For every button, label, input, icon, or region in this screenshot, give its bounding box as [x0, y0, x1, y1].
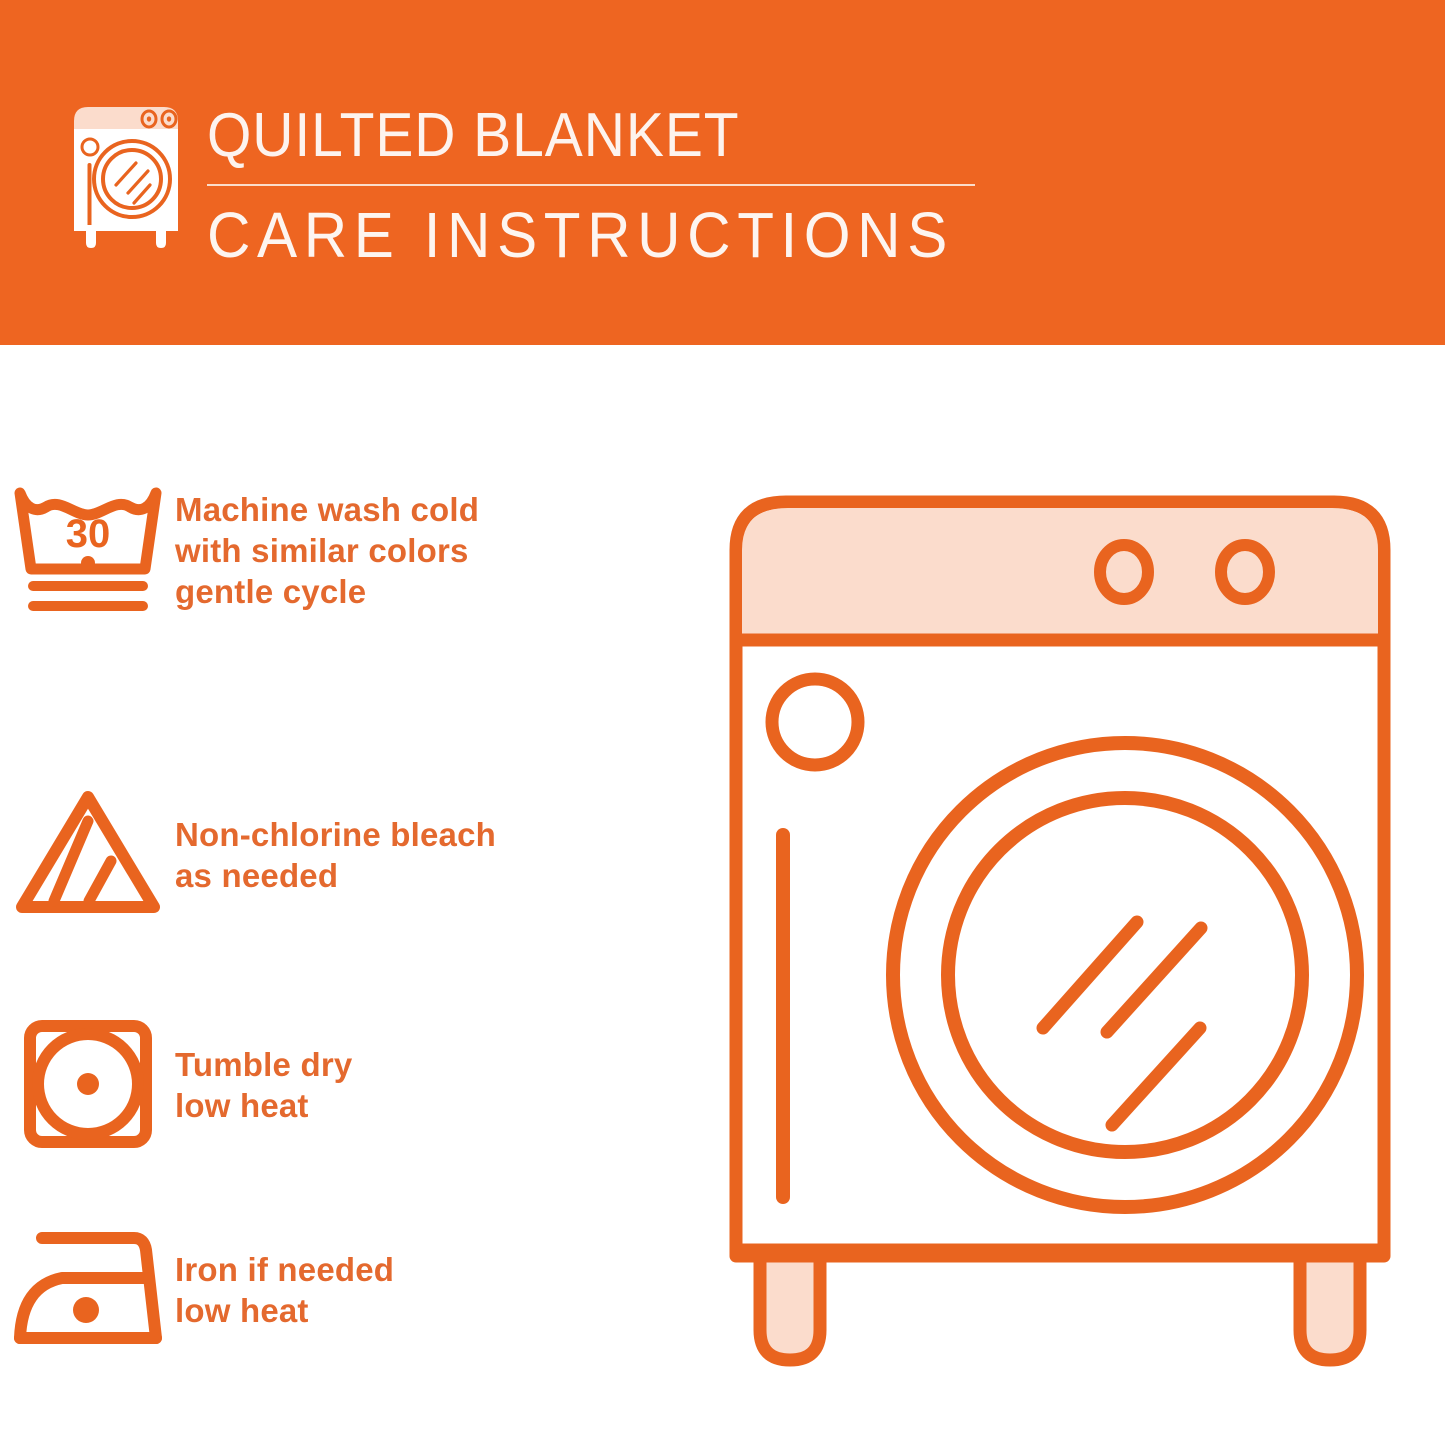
list-item-tumble-dry: Tumble dry low heat: [0, 1010, 700, 1160]
tumble-dry-low-heat-icon: [0, 1010, 175, 1160]
header-banner: QUILTED BLANKET CARE INSTRUCTIONS: [0, 0, 1445, 345]
care-instruction-list: 30 Machine wash cold with similar colors…: [0, 345, 700, 1445]
wash-tub-30-gentle-icon: 30: [0, 475, 175, 625]
list-item-label: Iron if needed low heat: [175, 1249, 394, 1331]
page-subtitle: CARE INSTRUCTIONS: [207, 198, 1147, 272]
list-item-label: Tumble dry low heat: [175, 1044, 352, 1126]
iron-low-heat-icon: [0, 1220, 175, 1360]
control-panel: [742, 508, 1378, 638]
washing-machine-logo-icon: [66, 103, 186, 248]
list-item-machine-wash: 30 Machine wash cold with similar colors…: [0, 475, 700, 625]
header-text-block: QUILTED BLANKET CARE INSTRUCTIONS: [207, 100, 1207, 272]
wash-temperature-value: 30: [65, 512, 110, 556]
title-divider: [207, 184, 975, 186]
list-item-bleach: Non-chlorine bleach as needed: [0, 785, 700, 925]
list-item-label: Machine wash cold with similar colors ge…: [175, 489, 479, 612]
detergent-slot: [776, 828, 790, 1204]
care-instructions-infographic: QUILTED BLANKET CARE INSTRUCTIONS 30: [0, 0, 1445, 1445]
list-item-iron: Iron if needed low heat: [0, 1220, 700, 1360]
washing-machine-illustration: [700, 450, 1420, 1390]
list-item-label: Non-chlorine bleach as needed: [175, 814, 496, 896]
non-chlorine-bleach-triangle-icon: [0, 785, 175, 925]
page-title: QUILTED BLANKET: [207, 100, 1127, 172]
